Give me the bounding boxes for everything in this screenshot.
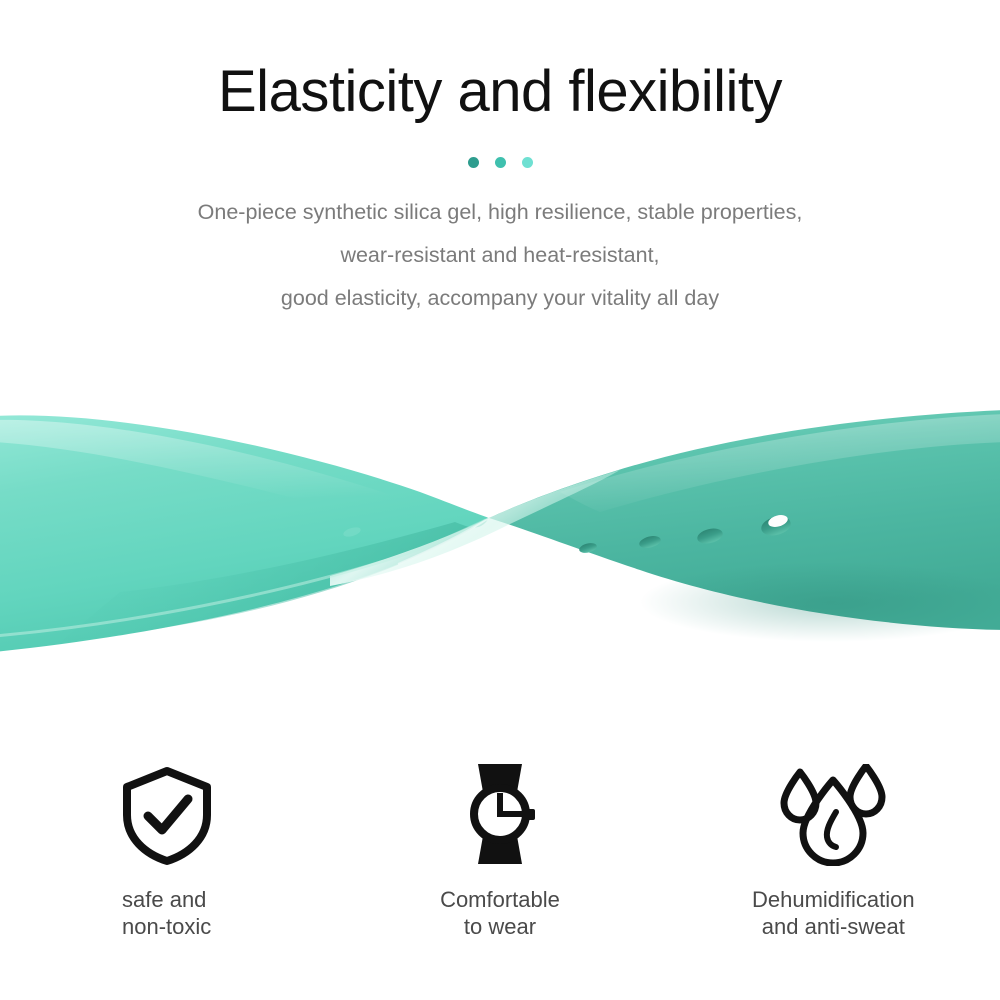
feature-caption: Dehumidification and anti-sweat (752, 886, 915, 940)
three-dot-divider (0, 157, 1000, 169)
feature-caption: safe and non-toxic (122, 886, 211, 940)
feature-icon-wrap (119, 762, 215, 866)
feature-caption-line-1: safe and (122, 886, 211, 913)
feature-comfortable-to-wear: Comfortable to wear (333, 762, 666, 952)
divider-dot-1 (468, 157, 479, 168)
feature-caption-line-1: Dehumidification (752, 886, 915, 913)
twisted-silicone-watch-band (0, 380, 1000, 680)
divider-dot-3 (522, 157, 533, 168)
page-header: Elasticity and flexibility One-piece syn… (0, 0, 1000, 320)
wristwatch-icon (459, 762, 541, 866)
feature-icon-wrap (778, 762, 888, 866)
feature-row: safe and non-toxic Comfortable to wear (0, 762, 1000, 952)
feature-dehumidification: Dehumidification and anti-sweat (667, 762, 1000, 952)
subtitle-line-1: One-piece synthetic silica gel, high res… (0, 191, 1000, 234)
subtitle-line-3: good elasticity, accompany your vitality… (0, 277, 1000, 320)
subtitle-block: One-piece synthetic silica gel, high res… (0, 191, 1000, 320)
page-title: Elasticity and flexibility (0, 0, 1000, 123)
feature-caption-line-2: to wear (440, 913, 560, 940)
feature-safe-non-toxic: safe and non-toxic (0, 762, 333, 952)
subtitle-line-2: wear-resistant and heat-resistant, (0, 234, 1000, 277)
feature-caption-line-2: and anti-sweat (752, 913, 915, 940)
product-image-area (0, 380, 1000, 680)
feature-caption-line-2: non-toxic (122, 913, 211, 940)
water-drops-icon (778, 764, 888, 866)
feature-caption: Comfortable to wear (440, 886, 560, 940)
divider-dot-2 (495, 157, 506, 168)
feature-caption-line-1: Comfortable (440, 886, 560, 913)
shield-check-icon (119, 766, 215, 866)
feature-icon-wrap (459, 762, 541, 866)
